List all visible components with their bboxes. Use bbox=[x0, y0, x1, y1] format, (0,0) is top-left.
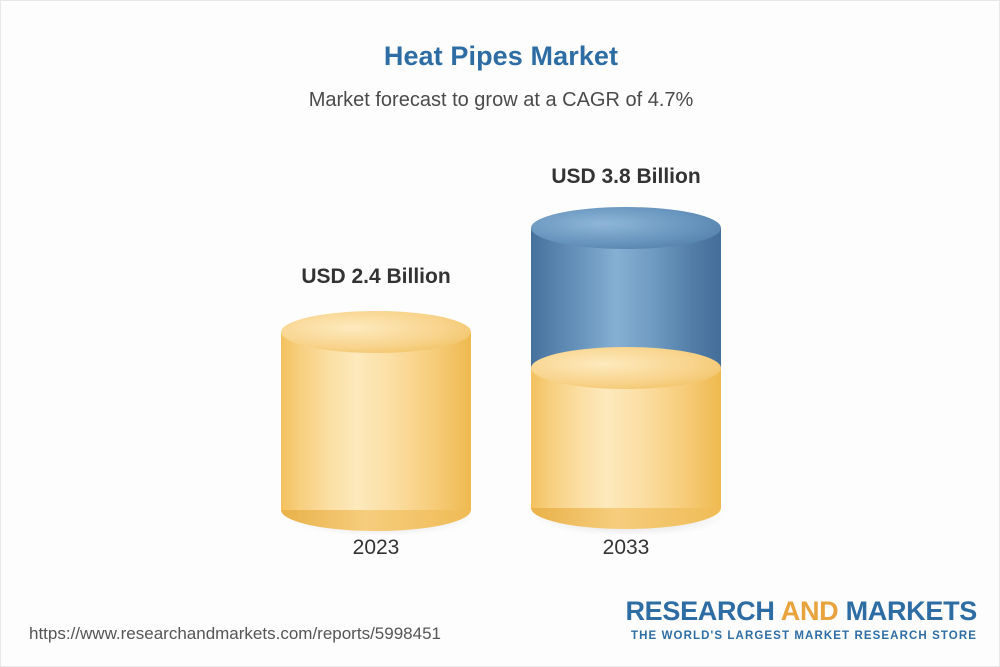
category-label-2023: 2023 bbox=[281, 536, 471, 560]
source-url[interactable]: https://www.researchandmarkets.com/repor… bbox=[29, 624, 441, 644]
logo-markets-text: MARKETS bbox=[846, 596, 977, 626]
cylinder-top-cap-2033 bbox=[531, 207, 721, 249]
brand-logo: RESEARCH AND MARKETS THE WORLD'S LARGEST… bbox=[625, 596, 977, 642]
chart-canvas: Heat Pipes Market Market forecast to gro… bbox=[0, 0, 1000, 667]
page-title: Heat Pipes Market bbox=[1, 41, 1000, 72]
logo-research-text: RESEARCH bbox=[625, 596, 780, 626]
chart-subtitle: Market forecast to grow at a CAGR of 4.7… bbox=[1, 89, 1000, 112]
cylinder-top-cap-2023 bbox=[281, 311, 471, 353]
logo-tagline: THE WORLD'S LARGEST MARKET RESEARCH STOR… bbox=[625, 630, 977, 642]
cylinder-2033 bbox=[531, 207, 721, 521]
bar-value-label-2033: USD 3.8 Billion bbox=[531, 165, 721, 189]
logo-and-text: AND bbox=[781, 596, 846, 626]
cylinder-body-base-2033 bbox=[531, 368, 721, 508]
bar-value-label-2023: USD 2.4 Billion bbox=[281, 265, 471, 289]
logo-wordmark: RESEARCH AND MARKETS bbox=[625, 596, 977, 627]
cylinder-2023 bbox=[281, 311, 471, 521]
category-label-2033: 2033 bbox=[531, 536, 721, 560]
cylinder-body-2023 bbox=[281, 332, 471, 510]
cylinder-segment-divider-2033 bbox=[531, 347, 721, 389]
